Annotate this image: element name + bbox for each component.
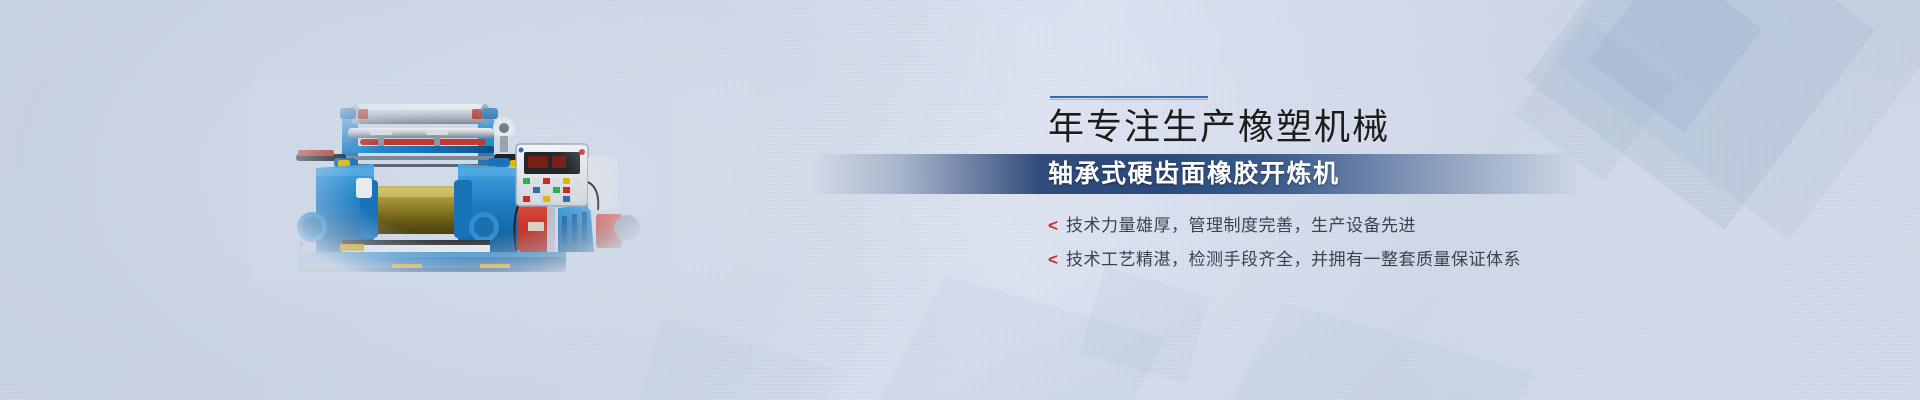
chevron-left-icon: < (1048, 216, 1066, 236)
list-item: < 技术力量雄厚，管理制度完善，生产设备先进 (1048, 216, 1580, 236)
list-item-label: 技术力量雄厚，管理制度完善，生产设备先进 (1066, 216, 1416, 236)
decorative-polygon-8 (624, 318, 836, 400)
decorative-polygon-6 (1080, 267, 1211, 384)
banner-headline: 年专注生产橡塑机械 (1048, 104, 1580, 150)
subtitle-bar-wrapper: 轴承式硬齿面橡胶开炼机 (1020, 154, 1580, 194)
decorative-polygon-2 (1550, 0, 1920, 240)
banner-text-block: 年专注生产橡塑机械 轴承式硬齿面橡胶开炼机 < 技术力量雄厚，管理制度完善，生产… (1020, 96, 1580, 284)
list-item-label: 技术工艺精湛，检测手段齐全，并拥有一整套质量保证体系 (1066, 250, 1521, 270)
feature-bullet-list: < 技术力量雄厚，管理制度完善，生产设备先进 < 技术工艺精湛，检测手段齐全，并… (1048, 216, 1580, 270)
headline-rule-tan (1050, 99, 1208, 100)
decorative-polygon-7 (1207, 302, 1534, 400)
banner-subtitle: 轴承式硬齿面橡胶开炼机 (1048, 154, 1340, 194)
list-item: < 技术工艺精湛，检测手段齐全，并拥有一整套质量保证体系 (1048, 250, 1580, 270)
product-photo-rubber-mixing-mill (282, 92, 642, 272)
promo-banner: 年专注生产橡塑机械 轴承式硬齿面橡胶开炼机 < 技术力量雄厚，管理制度完善，生产… (0, 0, 1920, 400)
headline-rule-blue (1050, 96, 1208, 98)
chevron-left-icon: < (1048, 250, 1066, 270)
decorative-polygon-5 (873, 276, 1166, 400)
decorative-polygon-3 (1588, 0, 1762, 133)
